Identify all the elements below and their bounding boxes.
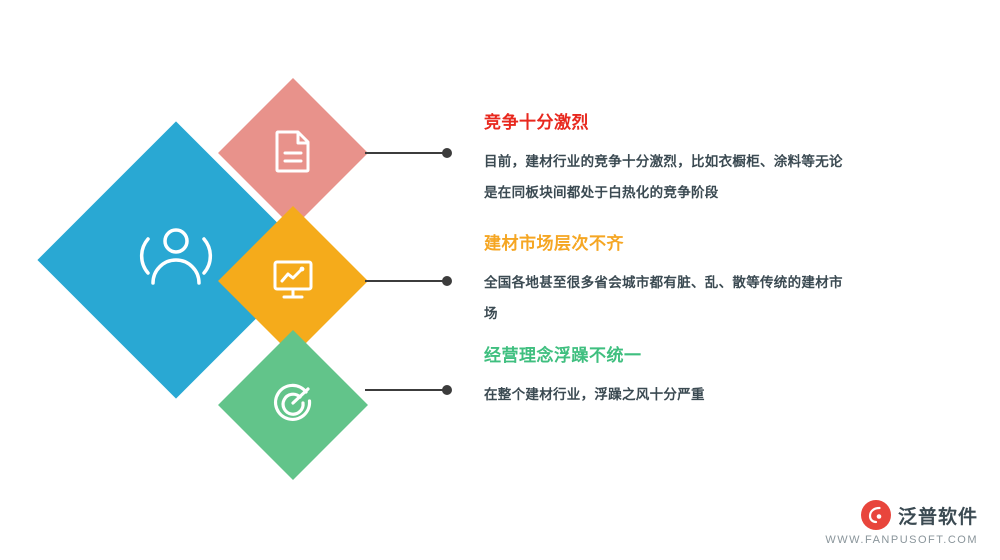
presentation-chart-icon [271,257,315,306]
item-diamond-3 [218,330,368,480]
connector-dot-1 [442,148,452,158]
fanpu-logo-icon [861,500,891,530]
item-body-2: 全国各地甚至很多省会城市都有脏、乱、散等传统的建材市场 [484,267,844,329]
brand-name: 泛普软件 [898,502,978,529]
connector-dot-2 [442,276,452,286]
target-arrow-icon [272,382,314,429]
connector-line-3 [365,389,448,391]
item-title-1: 竞争十分激烈 [484,108,844,133]
brand-url: WWW.FANPUSOFT.COM [825,534,978,546]
item-body-1: 目前，建材行业的竞争十分激烈，比如衣橱柜、涂料等无论是在同板块间都处于白热化的竞… [484,146,844,208]
connector-dot-3 [442,385,452,395]
item-diamond-1-inner [240,100,346,206]
diagram-canvas: 竞争十分激烈 目前，建材行业的竞争十分激烈，比如衣橱柜、涂料等无论是在同板块间都… [0,0,1000,560]
item-title-3: 经营理念浮躁不统一 [484,341,844,366]
text-block-3: 经营理念浮躁不统一 在整个建材行业，浮躁之风十分严重 [484,341,844,410]
text-block-2: 建材市场层次不齐 全国各地甚至很多省会城市都有脏、乱、散等传统的建材市场 [484,229,844,329]
item-body-3: 在整个建材行业，浮躁之风十分严重 [484,379,844,410]
item-title-2: 建材市场层次不齐 [484,229,844,254]
brand-logo: 泛普软件 WWW.FANPUSOFT.COM [825,500,978,546]
connector-line-1 [365,152,448,154]
item-diamond-2-inner [240,228,346,334]
connector-line-2 [365,280,448,282]
item-diamond-3-inner [240,352,346,458]
document-file-icon [274,129,312,178]
brand-logo-row: 泛普软件 [861,500,978,530]
text-block-1: 竞争十分激烈 目前，建材行业的竞争十分激烈，比如衣橱柜、涂料等无论是在同板块间都… [484,108,844,208]
user-person-icon [139,221,213,300]
